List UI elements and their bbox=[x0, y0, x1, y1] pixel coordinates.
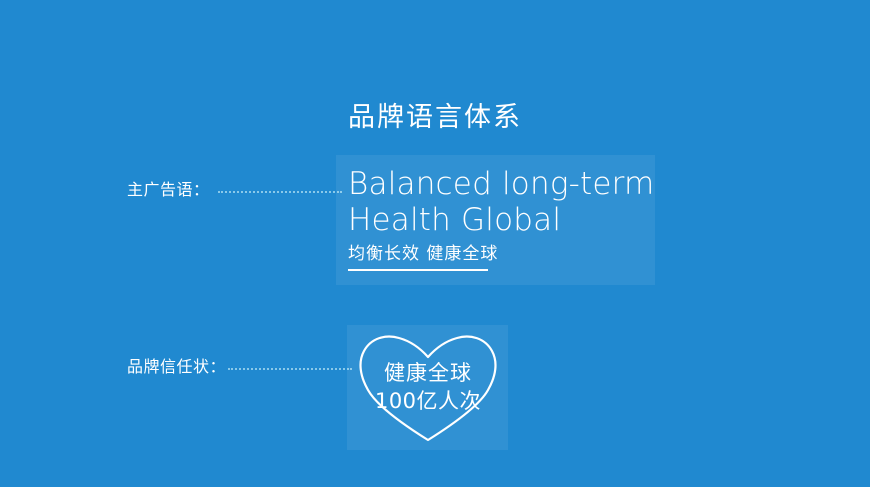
connector-line-trust bbox=[228, 368, 352, 370]
slide-canvas: 品牌语言体系 主广告语： Balanced long-term Health G… bbox=[0, 0, 870, 487]
page-title: 品牌语言体系 bbox=[0, 101, 870, 135]
trust-mark-line-1: 健康全球 bbox=[352, 360, 504, 386]
slogan-english-line-2: Health Global bbox=[348, 202, 648, 238]
brand-trust-mark: 健康全球 100亿人次 bbox=[352, 326, 504, 448]
heart-icon bbox=[352, 326, 504, 448]
trust-mark-line-2: 100亿人次 bbox=[352, 388, 504, 414]
main-slogan-block: Balanced long-term Health Global 均衡长效 健康… bbox=[348, 166, 648, 271]
label-main-slogan: 主广告语： bbox=[127, 180, 210, 200]
slogan-english-line-1: Balanced long-term bbox=[348, 166, 648, 202]
slogan-underline-rule bbox=[348, 269, 488, 271]
label-brand-trust: 品牌信任状： bbox=[127, 357, 226, 377]
connector-line-slogan bbox=[218, 191, 342, 193]
slogan-chinese-line: 均衡长效 健康全球 bbox=[348, 243, 648, 265]
